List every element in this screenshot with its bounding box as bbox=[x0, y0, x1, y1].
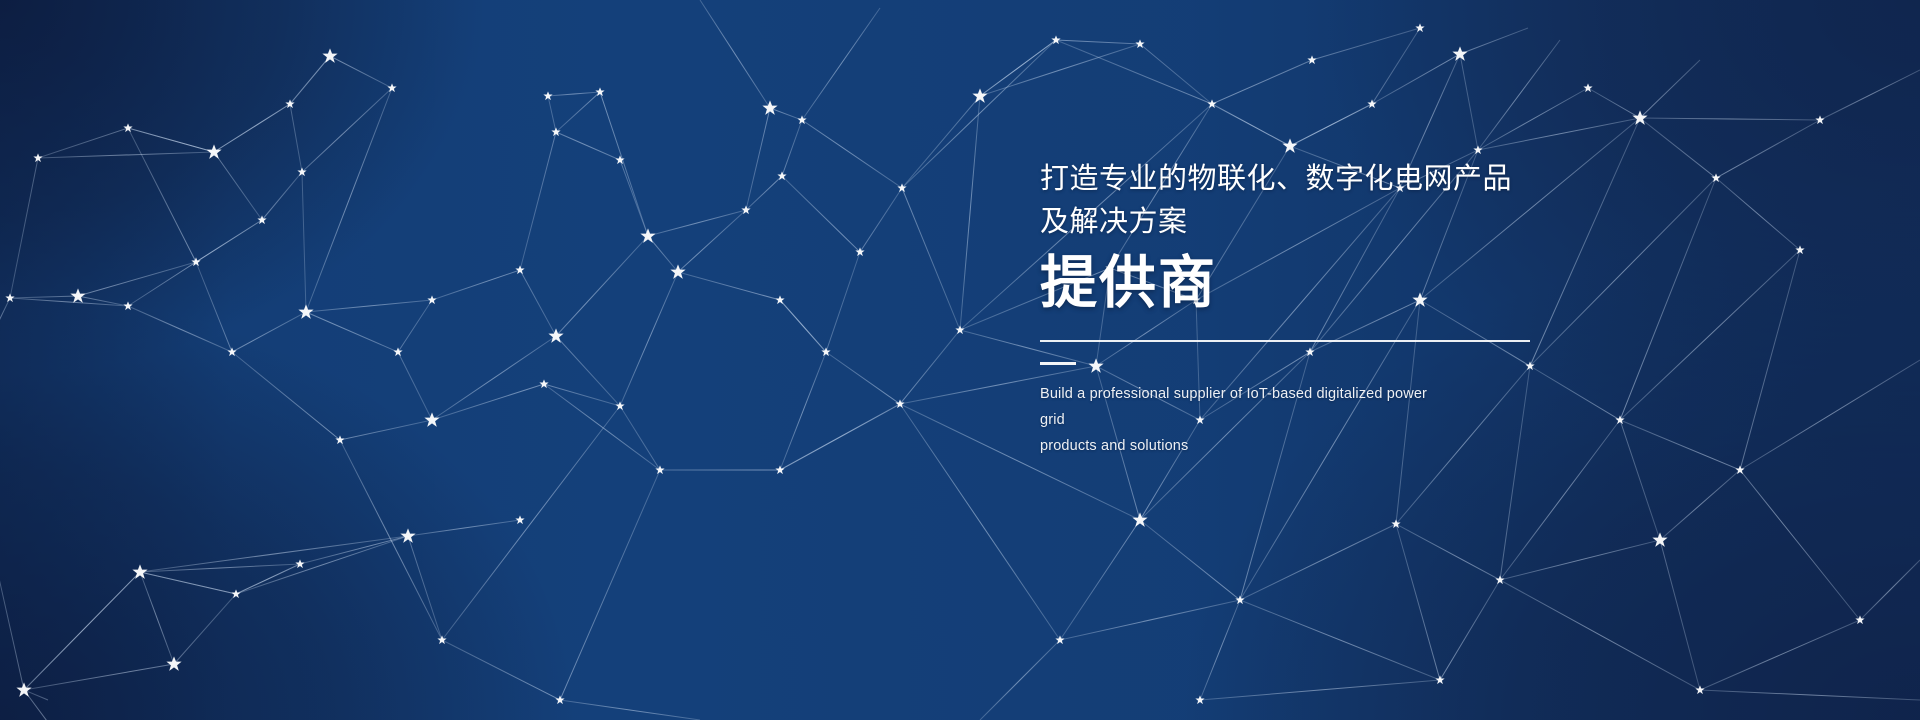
subtitle-line-2: products and solutions bbox=[1040, 433, 1440, 459]
hero-banner: 打造专业的物联化、数字化电网产品 及解决方案 提供商 Build a profe… bbox=[0, 0, 1920, 720]
hero-copy-block: 打造专业的物联化、数字化电网产品 及解决方案 提供商 Build a profe… bbox=[1040, 158, 1600, 459]
headline-line-2: 及解决方案 bbox=[1040, 201, 1600, 244]
divider-rule-long bbox=[1040, 340, 1530, 342]
headline-emphasis: 提供商 bbox=[1040, 250, 1600, 316]
divider-rule-short bbox=[1040, 362, 1076, 365]
headline-line-1: 打造专业的物联化、数字化电网产品 bbox=[1040, 158, 1600, 201]
subtitle-line-1: Build a professional supplier of IoT-bas… bbox=[1040, 381, 1440, 433]
subtitle: Build a professional supplier of IoT-bas… bbox=[1040, 381, 1440, 459]
network-constellation-graphic bbox=[0, 0, 1920, 720]
